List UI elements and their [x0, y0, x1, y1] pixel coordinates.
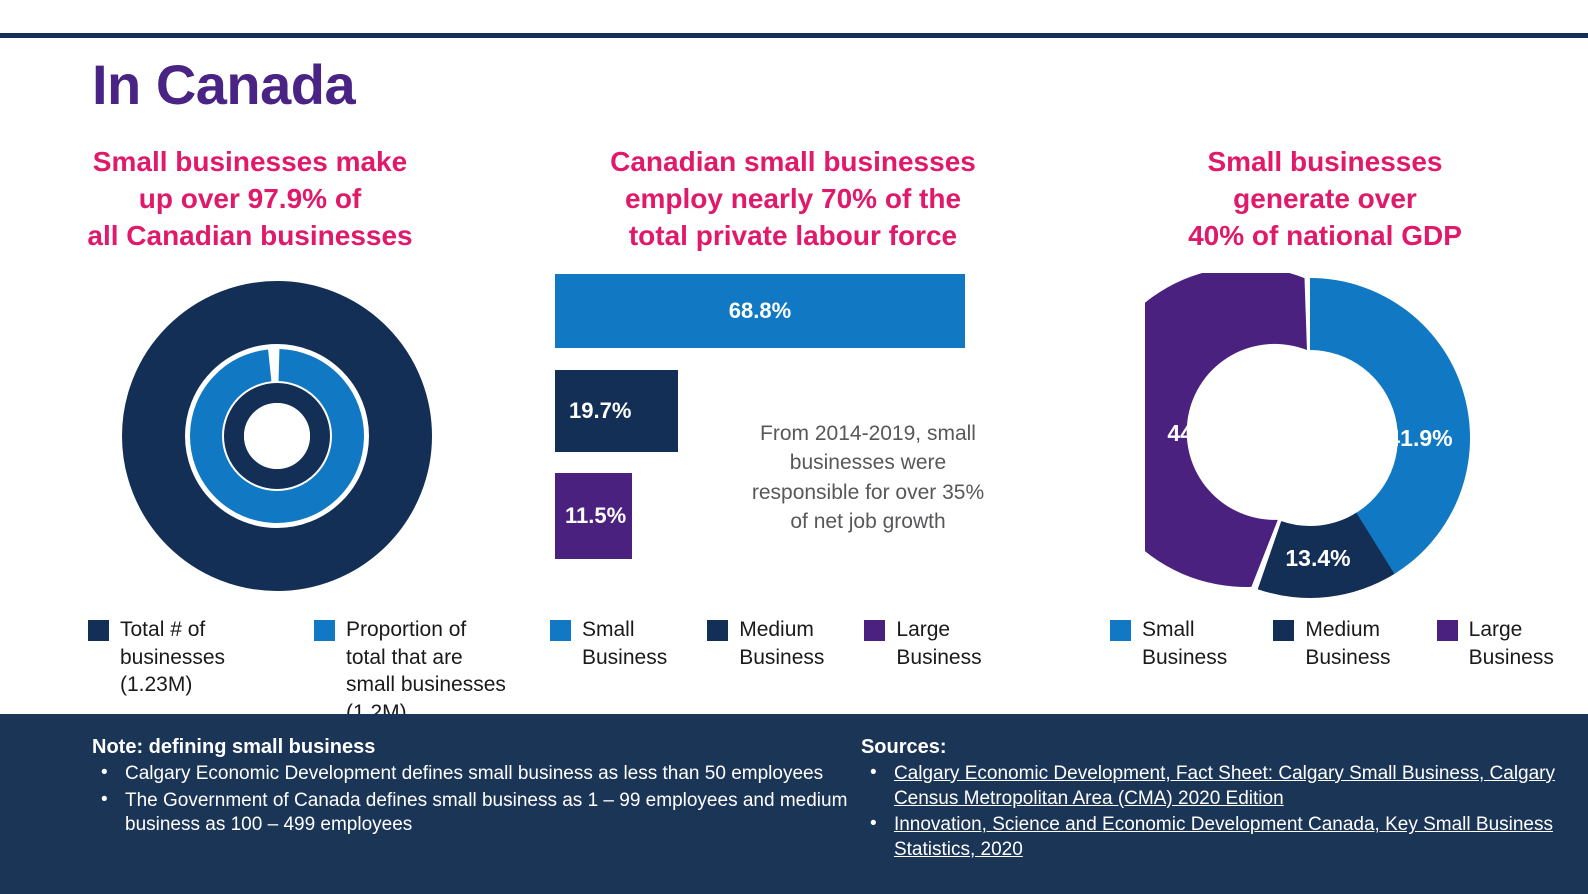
column-employment: Canadian small businesses employ nearly … — [540, 138, 1040, 708]
footer-note-item: The Government of Canada defines small b… — [92, 789, 861, 838]
legend-item-small-business[interactable]: Small Business — [550, 616, 667, 671]
column-heading-employment: Canadian small businesses employ nearly … — [578, 144, 1008, 255]
heading-line: all Canadian businesses — [30, 218, 470, 255]
legend-label: Total # of businesses (1.23M) — [120, 616, 280, 699]
bar-value-label: 19.7% — [569, 398, 631, 424]
footer-note-item: Calgary Economic Development defines sma… — [92, 762, 861, 787]
bar-value-label: 11.5% — [565, 503, 626, 529]
bar-large-business: 11.5% — [555, 473, 632, 559]
footer-sources-column: Sources: Calgary Economic Development, F… — [861, 736, 1560, 865]
bar-medium-business: 19.7% — [555, 370, 678, 452]
heading-line: Canadian small businesses — [578, 144, 1008, 181]
legend-item-large-business[interactable]: Large Business — [1437, 616, 1560, 671]
legend-businesses: Total # of businesses (1.23M) Proportion… — [88, 616, 548, 727]
source-link[interactable]: Innovation, Science and Economic Develop… — [894, 814, 1553, 860]
gdp-donut-chart: 41.9% 13.4% 44.7% — [1145, 273, 1475, 603]
column-businesses: Small businesses make up over 97.9% of a… — [0, 138, 540, 708]
heading-line: Small businesses — [1115, 144, 1535, 181]
legend-employment: Small Business Medium Business Large Bus… — [550, 616, 980, 671]
employment-bar-chart: 68.8% 19.7% 11.5% From 2014-2019, small … — [555, 274, 1025, 594]
legend-item-medium-business[interactable]: Medium Business — [1273, 616, 1396, 671]
heading-line: total private labour force — [578, 218, 1008, 255]
heading-line: employ nearly 70% of the — [578, 181, 1008, 218]
footer-source-item[interactable]: Calgary Economic Development, Fact Sheet… — [861, 762, 1560, 811]
legend-swatch-icon — [1273, 620, 1294, 641]
legend-swatch-icon — [314, 620, 335, 641]
footer-note-column: Note: defining small business Calgary Ec… — [92, 736, 861, 865]
legend-label: Large Business — [1469, 616, 1560, 671]
donut-hole — [244, 403, 310, 469]
legend-swatch-icon — [707, 620, 728, 641]
donut-value-medium: 13.4% — [1285, 545, 1350, 571]
legend-label: Small Business — [582, 616, 667, 671]
column-heading-businesses: Small businesses make up over 97.9% of a… — [30, 144, 470, 255]
bar-value-label: 68.8% — [729, 298, 791, 324]
donut-value-small: 41.9% — [1387, 425, 1452, 451]
donut-value-large: 44.7% — [1167, 420, 1232, 446]
legend-item-small-businesses[interactable]: Proportion of total that are small busin… — [314, 616, 506, 727]
legend-swatch-icon — [1110, 620, 1131, 641]
legend-label: Large Business — [896, 616, 981, 671]
legend-label: Medium Business — [739, 616, 824, 671]
job-growth-note: From 2014-2019, small businesses were re… — [743, 419, 993, 537]
footer-sources-list: Calgary Economic Development, Fact Sheet… — [861, 762, 1560, 863]
heading-line: up over 97.9% of — [30, 181, 470, 218]
infographic-page: In Canada Small businesses make up over … — [0, 0, 1588, 894]
heading-line: generate over — [1115, 181, 1535, 218]
legend-swatch-icon — [88, 620, 109, 641]
legend-item-total-businesses[interactable]: Total # of businesses (1.23M) — [88, 616, 280, 727]
column-heading-gdp: Small businesses generate over 40% of na… — [1115, 144, 1535, 255]
stats-columns: Small businesses make up over 97.9% of a… — [0, 138, 1588, 708]
column-gdp: Small businesses generate over 40% of na… — [1040, 138, 1588, 708]
legend-swatch-icon — [864, 620, 885, 641]
top-divider-rule — [0, 33, 1588, 38]
legend-label: Medium Business — [1305, 616, 1396, 671]
heading-line: Small businesses make — [30, 144, 470, 181]
footer-source-item[interactable]: Innovation, Science and Economic Develop… — [861, 813, 1560, 862]
footer-note-list: Calgary Economic Development defines sma… — [92, 762, 861, 838]
legend-item-small-business[interactable]: Small Business — [1110, 616, 1233, 671]
footer-bar: Note: defining small business Calgary Ec… — [0, 714, 1588, 894]
legend-label: Proportion of total that are small busin… — [346, 616, 506, 727]
page-title: In Canada — [92, 57, 355, 113]
legend-item-large-business[interactable]: Large Business — [864, 616, 981, 671]
bar-small-business: 68.8% — [555, 274, 965, 348]
legend-item-medium-business[interactable]: Medium Business — [707, 616, 824, 671]
concentric-donut-chart — [122, 281, 432, 591]
footer-sources-title: Sources: — [861, 736, 1560, 759]
gdp-donut-svg: 41.9% 13.4% 44.7% — [1145, 273, 1475, 603]
legend-swatch-icon — [550, 620, 571, 641]
heading-line: 40% of national GDP — [1115, 218, 1535, 255]
legend-gdp: Small Business Medium Business Large Bus… — [1110, 616, 1560, 671]
footer-note-title: Note: defining small business — [92, 736, 861, 759]
legend-swatch-icon — [1437, 620, 1458, 641]
source-link[interactable]: Calgary Economic Development, Fact Sheet… — [894, 763, 1555, 809]
legend-label: Small Business — [1142, 616, 1233, 671]
concentric-donut-svg — [122, 281, 432, 591]
